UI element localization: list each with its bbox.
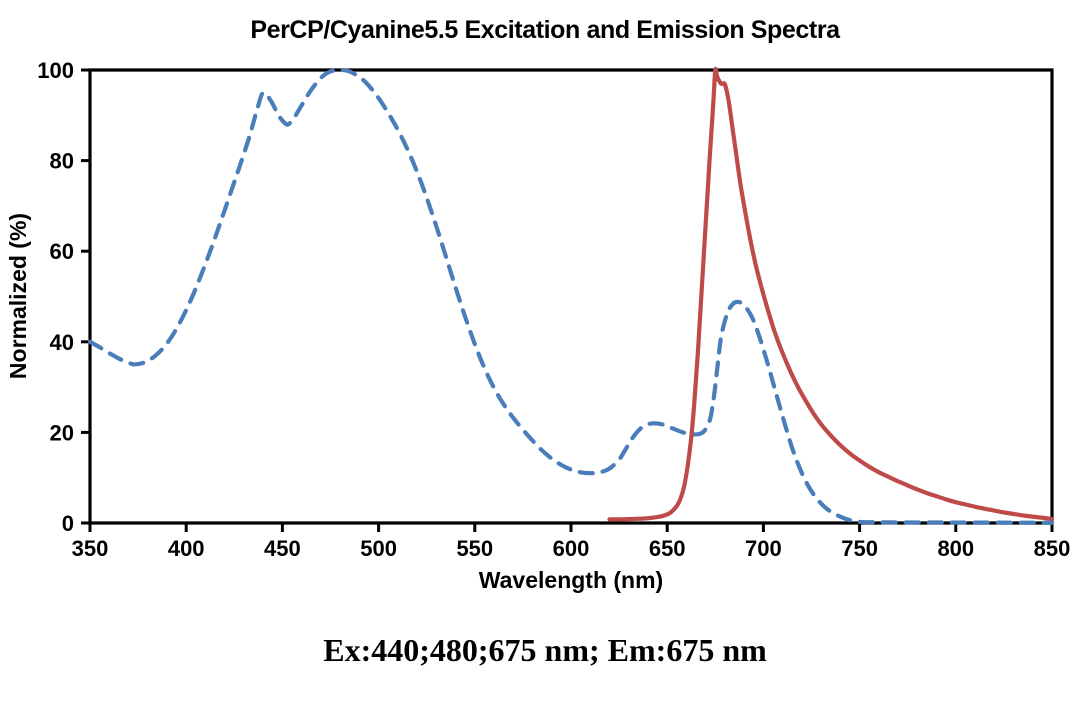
plot-frame [90, 70, 1052, 523]
chart-page: PerCP/Cyanine5.5 Excitation and Emission… [0, 0, 1090, 703]
series-emission-line [609, 69, 1052, 520]
data-series-group [90, 69, 1052, 523]
x-tick-label: 650 [649, 536, 686, 561]
x-axis-title: Wavelength (nm) [479, 567, 663, 593]
y-tick-label: 40 [50, 330, 74, 355]
y-tick-label: 80 [50, 149, 74, 174]
x-axis-ticks: 350400450500550600650700750800850 [72, 523, 1071, 561]
plot-axes [90, 70, 1052, 523]
y-tick-label: 20 [50, 420, 74, 445]
x-tick-label: 750 [841, 536, 878, 561]
x-tick-label: 550 [456, 536, 493, 561]
chart-caption: Ex:440;480;675 nm; Em:675 nm [0, 632, 1090, 669]
y-axis-title: Normalized (%) [5, 213, 31, 379]
x-tick-label: 500 [360, 536, 397, 561]
y-tick-label: 0 [62, 511, 74, 536]
x-tick-label: 800 [937, 536, 974, 561]
x-tick-label: 700 [745, 536, 782, 561]
y-axis-ticks: 020406080100 [37, 58, 90, 536]
spectra-plot: 020406080100 350400450500550600650700750… [0, 0, 1090, 620]
x-tick-label: 850 [1034, 536, 1071, 561]
series-excitation-line [90, 70, 1052, 523]
x-tick-label: 600 [553, 536, 590, 561]
x-tick-label: 450 [264, 536, 301, 561]
y-tick-label: 100 [37, 58, 74, 83]
x-tick-label: 350 [72, 536, 109, 561]
x-tick-label: 400 [168, 536, 205, 561]
y-tick-label: 60 [50, 239, 74, 264]
